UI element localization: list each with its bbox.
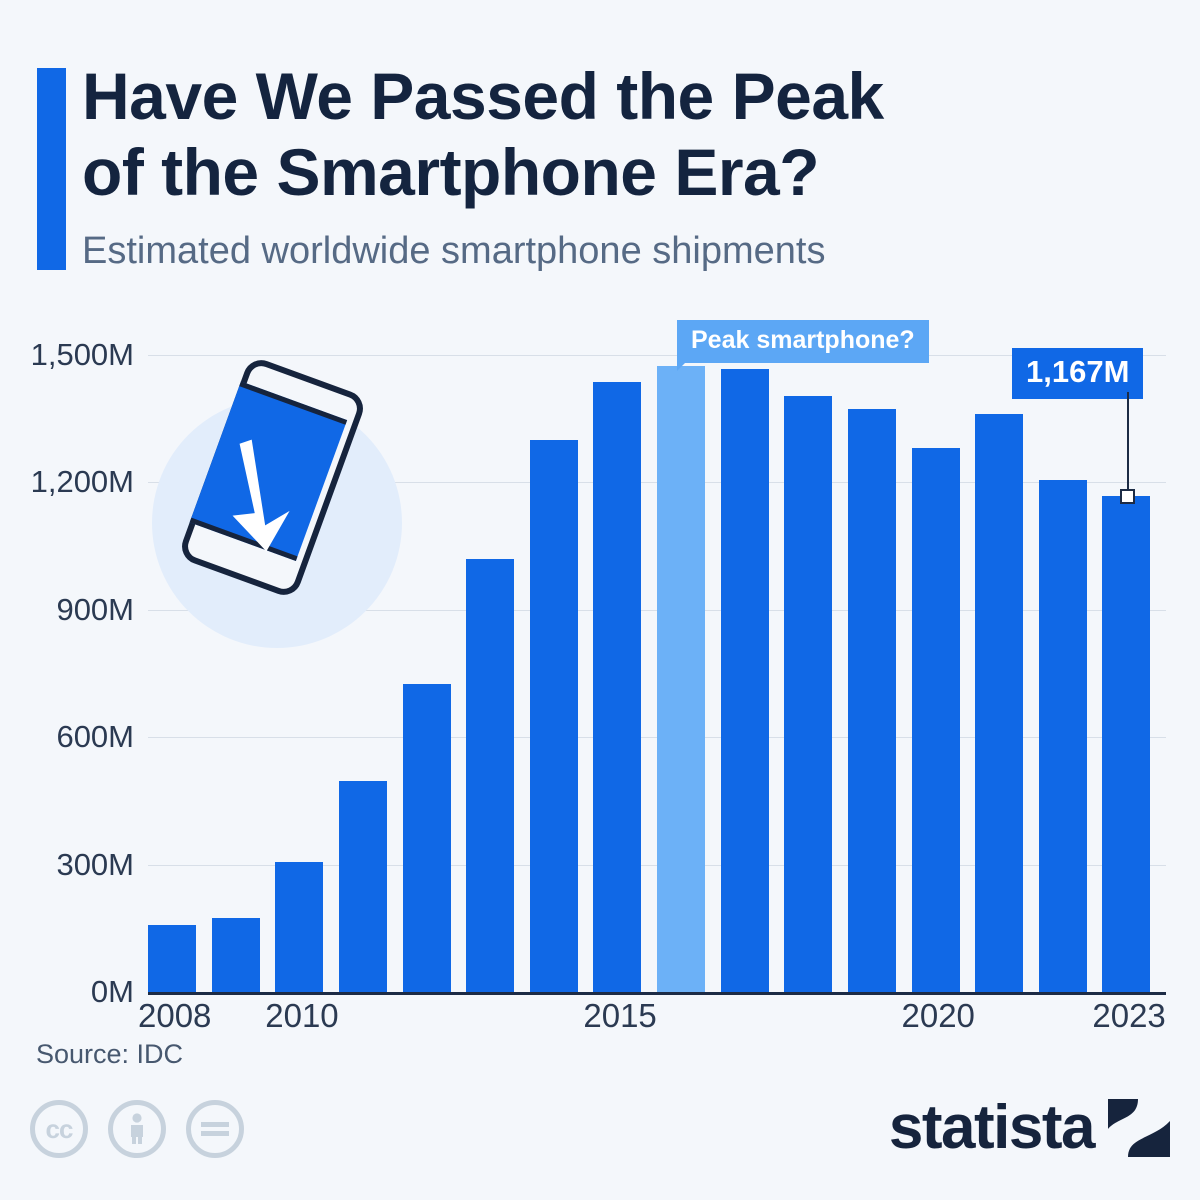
creative-commons-licence[interactable]: cc	[30, 1100, 260, 1162]
statista-logo-mark	[1108, 1099, 1170, 1157]
tooltip-tail	[677, 355, 693, 371]
x-axis-tick-label: 2015	[583, 998, 656, 1034]
callout-leader-line	[1127, 392, 1129, 496]
y-axis-tick-label: 600M	[0, 721, 134, 752]
value-callout-badge: 1,167M	[1012, 348, 1143, 399]
bar-2020[interactable]	[912, 448, 960, 992]
y-axis-tick-label: 1,200M	[0, 466, 134, 497]
bar-2021[interactable]	[975, 414, 1023, 992]
bar-2012[interactable]	[403, 684, 451, 992]
bar-2008[interactable]	[148, 925, 196, 992]
y-axis-tick-label: 1,500M	[0, 339, 134, 370]
callout-marker	[1120, 489, 1135, 504]
y-axis-tick-label: 0M	[0, 976, 134, 1007]
cc-icon[interactable]: cc	[30, 1100, 88, 1158]
source-note: Source: IDC	[36, 1039, 183, 1070]
x-axis-tick-label: 2008	[138, 998, 211, 1034]
bar-2019[interactable]	[848, 409, 896, 992]
bar-chart: 1,500M1,200M900M600M300M0M 2008201020152…	[0, 0, 1200, 1200]
y-axis-tick-label: 900M	[0, 594, 134, 625]
x-axis-tick-label: 2023	[1092, 998, 1165, 1034]
bar-2016[interactable]	[657, 366, 705, 992]
bar-2010[interactable]	[275, 862, 323, 992]
x-axis-line	[148, 992, 1166, 995]
cc-no-derivatives-icon[interactable]	[186, 1100, 244, 1158]
bar-2023[interactable]	[1102, 496, 1150, 992]
plot-area	[148, 355, 1166, 992]
bar-2022[interactable]	[1039, 480, 1087, 992]
bar-2017[interactable]	[721, 369, 769, 992]
peak-annotation-tooltip: Peak smartphone?	[677, 320, 929, 363]
equals-glyph	[200, 1120, 230, 1138]
x-axis-tick-label: 2020	[902, 998, 975, 1034]
x-axis-tick-label: 2010	[265, 998, 338, 1034]
bar-2018[interactable]	[784, 396, 832, 992]
bar-2014[interactable]	[530, 440, 578, 992]
person-glyph	[124, 1113, 150, 1145]
statista-logo[interactable]: statista	[889, 1095, 1170, 1161]
statista-wordmark: statista	[889, 1097, 1094, 1159]
bar-2011[interactable]	[339, 781, 387, 992]
bar-2015[interactable]	[593, 382, 641, 992]
bar-2009[interactable]	[212, 918, 260, 992]
y-axis-tick-label: 300M	[0, 849, 134, 880]
bar-2013[interactable]	[466, 559, 514, 992]
cc-attribution-icon[interactable]	[108, 1100, 166, 1158]
